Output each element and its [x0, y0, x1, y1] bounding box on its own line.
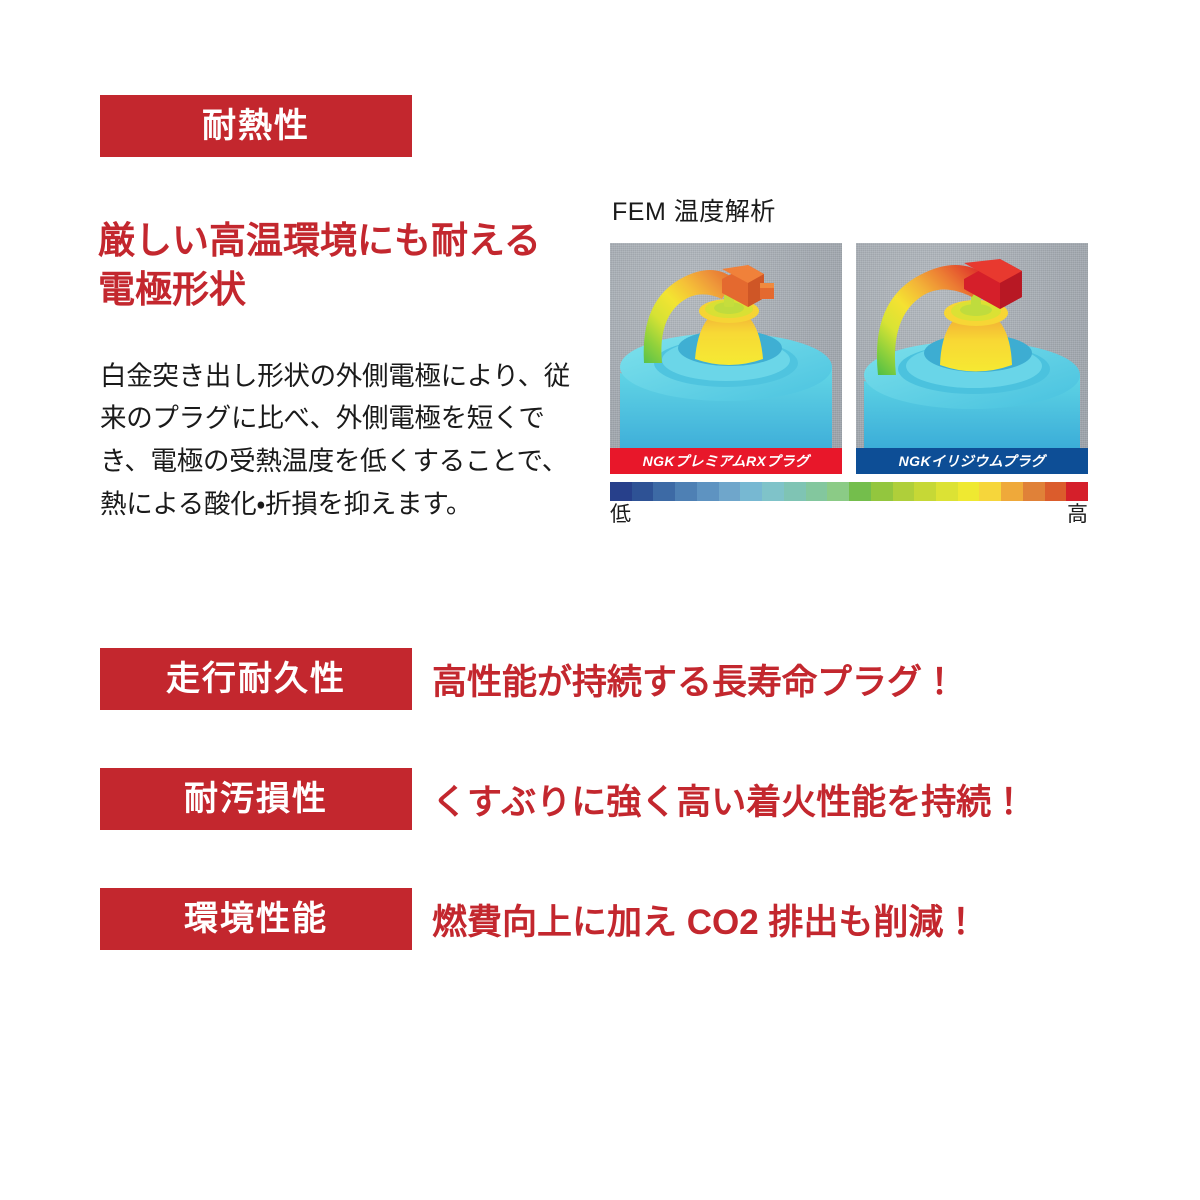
fem-thermal-image-premium-rx	[610, 243, 842, 448]
fem-thermal-image-iridium	[856, 243, 1088, 448]
fem-scale-band-9	[806, 482, 828, 501]
feature-badge-fouling-resistance-label: 耐汚損性	[184, 782, 328, 816]
fem-scale-band-3	[675, 482, 697, 501]
fem-panel-premium-rx: NGKプレミアムRXプラグ	[610, 243, 842, 474]
fem-scale-band-2	[653, 482, 675, 501]
feature-badge-fouling-resistance: 耐汚損性	[100, 768, 412, 830]
fem-caption-iridium: NGKイリジウムプラグ	[856, 448, 1088, 474]
fem-scale-band-11	[849, 482, 871, 501]
fem-caption-premium-rx-label: NGKプレミアムRXプラグ	[643, 451, 810, 471]
fem-caption-iridium-label: NGKイリジウムプラグ	[899, 451, 1046, 471]
feature-row-fouling-resistance: 耐汚損性 くすぶりに強く高い着火性能を持続！	[0, 768, 1200, 830]
fem-analysis-figure: FEM 温度解析	[610, 200, 1088, 525]
fem-scale-band-13	[893, 482, 915, 501]
fem-scale-band-21	[1066, 482, 1088, 501]
fem-scale-band-6	[740, 482, 762, 501]
heat-resistance-badge-label: 耐熱性	[202, 109, 310, 143]
fem-scale-band-16	[958, 482, 980, 501]
fem-analysis-title: FEM 温度解析	[612, 200, 1088, 225]
feature-text-driving-durability: 高性能が持続する長寿命プラグ！	[432, 648, 957, 710]
fem-panel-iridium: NGKイリジウムプラグ	[856, 243, 1088, 474]
heat-resistance-heading-line2: 電極形状	[98, 269, 246, 310]
fem-scale-band-14	[914, 482, 936, 501]
fem-temperature-color-scale	[610, 482, 1088, 501]
feature-text-fouling-resistance: くすぶりに強く高い着火性能を持続！	[432, 768, 1026, 830]
heat-resistance-badge: 耐熱性	[100, 95, 412, 157]
fem-scale-labels: 低 高	[610, 504, 1088, 525]
fem-scale-band-1	[632, 482, 654, 501]
fem-panel-group: NGKプレミアムRXプラグ	[610, 243, 1088, 474]
fem-scale-band-10	[827, 482, 849, 501]
fem-scale-band-20	[1045, 482, 1067, 501]
fem-scale-band-18	[1001, 482, 1023, 501]
heat-resistance-heading-line1: 厳しい高温環境にも耐える	[98, 220, 541, 261]
feature-badge-environmental-performance-label: 環境性能	[184, 902, 328, 936]
fem-scale-band-12	[871, 482, 893, 501]
feature-row-driving-durability: 走行耐久性 高性能が持続する長寿命プラグ！	[0, 648, 1200, 710]
fem-scale-band-4	[697, 482, 719, 501]
fem-scale-band-7	[762, 482, 784, 501]
feature-badge-environmental-performance: 環境性能	[100, 888, 412, 950]
fem-caption-premium-rx: NGKプレミアムRXプラグ	[610, 448, 842, 474]
feature-badge-driving-durability-label: 走行耐久性	[166, 662, 346, 696]
fem-scale-band-17	[979, 482, 1001, 501]
fem-spark-plug-render-iridium	[856, 243, 1088, 448]
feature-badge-driving-durability: 走行耐久性	[100, 648, 412, 710]
fem-scale-band-0	[610, 482, 632, 501]
fem-scale-band-19	[1023, 482, 1045, 501]
fem-scale-band-8	[784, 482, 806, 501]
fem-scale-band-15	[936, 482, 958, 501]
heat-resistance-heading: 厳しい高温環境にも耐える 電極形状	[98, 217, 598, 315]
feature-rows-section: 走行耐久性 高性能が持続する長寿命プラグ！ 耐汚損性 くすぶりに強く高い着火性能…	[0, 648, 1200, 1008]
fem-scale-low-label: 低	[610, 504, 631, 525]
heat-resistance-section: 耐熱性 厳しい高温環境にも耐える 電極形状 白金突き出し形状の外側電極により、従…	[0, 0, 1200, 600]
fem-spark-plug-render-premium-rx	[610, 243, 842, 448]
feature-row-environmental-performance: 環境性能 燃費向上に加え CO2 排出も削減！	[0, 888, 1200, 950]
fem-scale-band-5	[719, 482, 741, 501]
fem-scale-high-label: 高	[1067, 504, 1088, 525]
heat-resistance-body-text: 白金突き出し形状の外側電極により、従来のプラグに比べ、外側電極を短くでき、電極の…	[100, 355, 580, 527]
feature-text-environmental-performance: 燃費向上に加え CO2 排出も削減！	[432, 888, 978, 950]
